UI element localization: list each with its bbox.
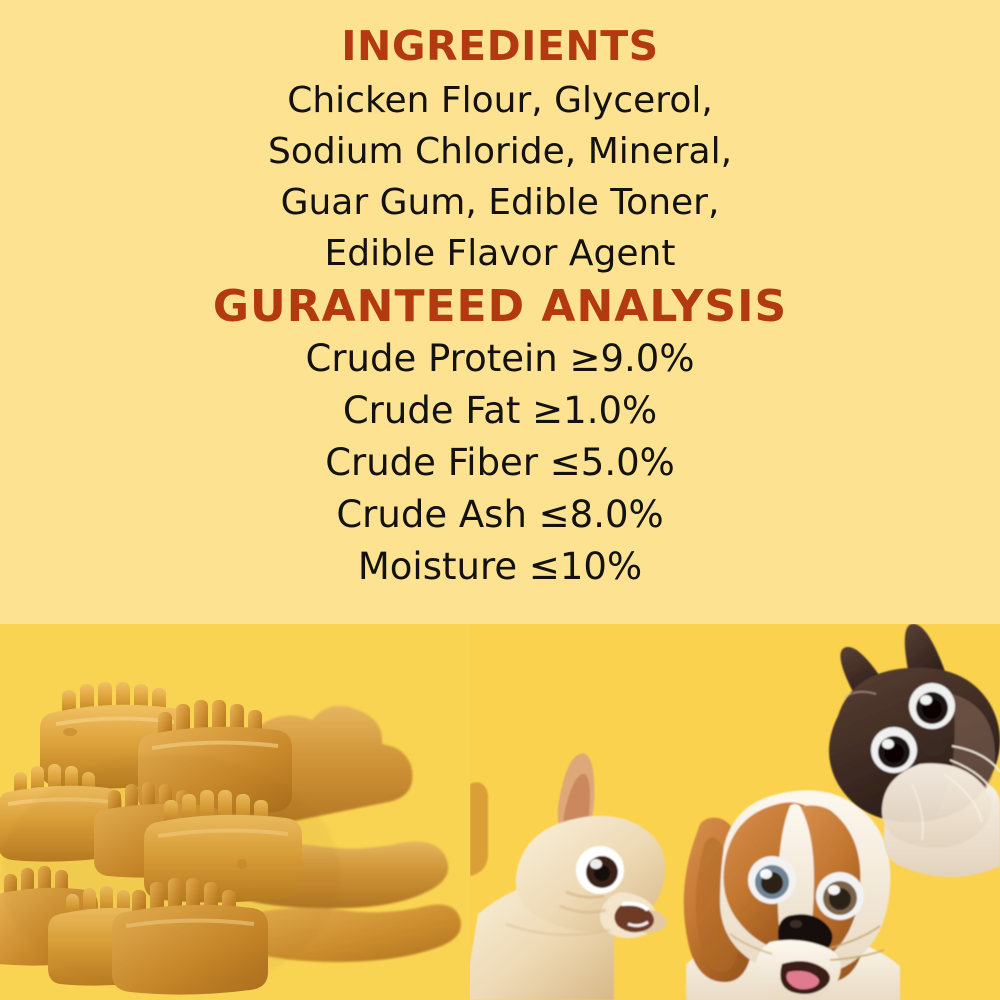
nutrition-label-panel: INGREDIENTS Chicken Flour, Glycerol, Sod… bbox=[0, 0, 1000, 624]
product-photo-band bbox=[0, 624, 1000, 1000]
ingredients-heading: INGREDIENTS bbox=[0, 0, 1000, 67]
analysis-line: Crude Protein ≥9.0% bbox=[0, 333, 1000, 385]
cavalier-spaniel-dog bbox=[684, 790, 900, 1000]
ingredients-line: Guar Gum, Edible Toner, bbox=[0, 177, 1000, 228]
analysis-line: Crude Fat ≥1.0% bbox=[0, 385, 1000, 437]
ingredients-list: Chicken Flour, Glycerol, Sodium Chloride… bbox=[0, 75, 1000, 279]
guaranteed-analysis-list: Crude Protein ≥9.0% Crude Fat ≥1.0% Crud… bbox=[0, 333, 1000, 593]
analysis-line: Crude Ash ≤8.0% bbox=[0, 489, 1000, 541]
analysis-line: Moisture ≤10% bbox=[0, 541, 1000, 593]
ingredients-line: Edible Flavor Agent bbox=[0, 228, 1000, 279]
guaranteed-analysis-heading: GURANTEED ANALYSIS bbox=[0, 279, 1000, 329]
analysis-line: Crude Fiber ≤5.0% bbox=[0, 437, 1000, 489]
ingredients-line: Chicken Flour, Glycerol, bbox=[0, 75, 1000, 126]
product-label-graphic: INGREDIENTS Chicken Flour, Glycerol, Sod… bbox=[0, 0, 1000, 1000]
ingredients-line: Sodium Chloride, Mineral, bbox=[0, 126, 1000, 177]
dog-dental-chew-sticks-photo bbox=[0, 624, 470, 1000]
pets-photo bbox=[470, 624, 1000, 1000]
pets-illustration bbox=[470, 624, 1000, 1000]
chews-illustration bbox=[0, 624, 470, 1000]
